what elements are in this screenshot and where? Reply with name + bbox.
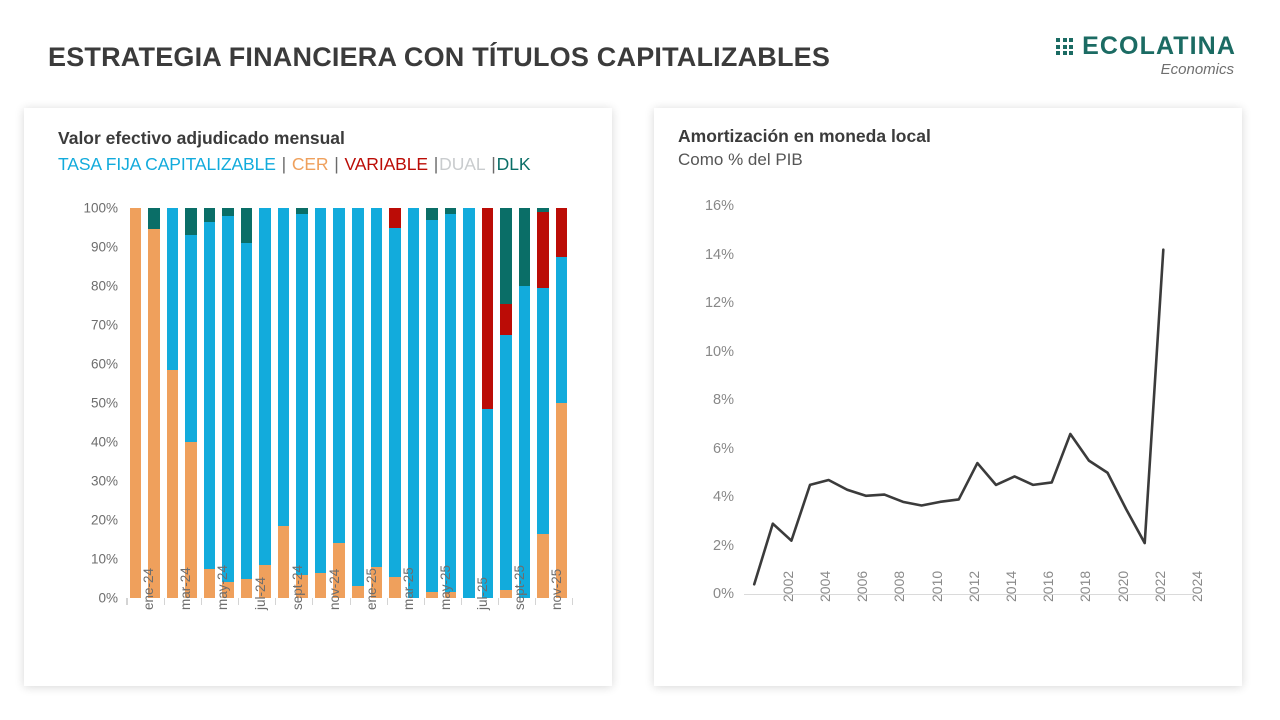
bar-segment <box>389 577 400 598</box>
bar-y-tick-label: 0% <box>98 591 118 606</box>
bar-segment <box>500 590 511 598</box>
bar-y-tick-label: 20% <box>91 513 118 528</box>
legend-item-dlk: DLK <box>497 154 531 174</box>
bar-y-tick-label: 80% <box>91 279 118 294</box>
bar-column[interactable] <box>130 208 141 598</box>
bar-y-tick-label: 60% <box>91 357 118 372</box>
line-chart: 0%2%4%6%8%10%12%14%16% 20022004200620082… <box>678 190 1218 680</box>
legend-separator: | <box>428 154 439 174</box>
line-x-tick-label: 2022 <box>1152 571 1168 602</box>
line-x-tick-label: 2024 <box>1189 571 1205 602</box>
bar-column[interactable] <box>537 208 548 598</box>
bar-segment <box>148 229 159 598</box>
line-x-tick-label: 2004 <box>817 571 833 602</box>
bar-axis-tick <box>461 598 462 605</box>
line-y-tick-label: 16% <box>705 198 734 214</box>
bar-column[interactable] <box>204 208 215 598</box>
bar-column[interactable] <box>222 208 233 598</box>
bar-segment <box>537 212 548 288</box>
bar-column[interactable] <box>315 208 326 598</box>
bar-column[interactable] <box>148 208 159 598</box>
bar-axis-tick <box>424 598 425 605</box>
bar-column[interactable] <box>445 208 456 598</box>
legend-separator: | <box>328 154 339 174</box>
bar-segment <box>426 208 437 220</box>
legend-item-tasa-fija-capitalizable: TASA FIJA CAPITALIZABLE <box>58 154 276 174</box>
line-y-tick-label: 14% <box>705 247 734 263</box>
bar-axis-tick <box>201 598 202 605</box>
bar-segment <box>241 579 252 599</box>
line-y-tick-label: 4% <box>713 489 734 505</box>
line-x-tick-label: 2008 <box>891 571 907 602</box>
bar-segment <box>185 208 196 235</box>
page-header: ESTRATEGIA FINANCIERA CON TÍTULOS CAPITA… <box>0 0 1280 98</box>
line-y-tick-label: 10% <box>705 344 734 360</box>
bar-segment <box>296 214 307 575</box>
bar-segment <box>296 208 307 214</box>
line-series-path <box>744 206 1194 594</box>
bar-segment <box>241 208 252 243</box>
bar-x-tick-label: may-24 <box>215 565 230 610</box>
bar-segment <box>204 222 215 569</box>
line-y-tick-label: 2% <box>713 538 734 554</box>
line-plot-area: 0%2%4%6%8%10%12%14%16% <box>744 206 1194 594</box>
line-x-tick-label: 2014 <box>1003 571 1019 602</box>
legend-item-dual: DUAL <box>439 154 485 174</box>
bar-column[interactable] <box>482 208 493 598</box>
bar-x-tick-label: ene-24 <box>141 568 156 610</box>
bar-x-tick-label: nov-25 <box>549 569 564 610</box>
line-x-tick-label: 2006 <box>854 571 870 602</box>
logo-wordmark: ECOLATINA <box>1082 34 1236 59</box>
bar-chart-legend: TASA FIJA CAPITALIZABLE | CER | VARIABLE… <box>58 154 530 175</box>
bar-column[interactable] <box>408 208 419 598</box>
bar-axis-tick <box>164 598 165 605</box>
bar-column[interactable] <box>167 208 178 598</box>
line-chart-subtitle: Como % del PIB <box>678 150 803 170</box>
bar-x-tick-label: jul-24 <box>253 577 268 610</box>
bar-segment <box>371 208 382 567</box>
bar-axis-tick <box>350 598 351 605</box>
bar-column[interactable] <box>352 208 363 598</box>
bar-column[interactable] <box>259 208 270 598</box>
bar-axis-tick <box>535 598 536 605</box>
bar-y-tick-label: 90% <box>91 240 118 255</box>
legend-item-variable: VARIABLE <box>344 154 428 174</box>
line-x-tick-label: 2010 <box>929 571 945 602</box>
bar-y-tick-label: 40% <box>91 435 118 450</box>
bar-axis-tick <box>387 598 388 605</box>
bar-segment <box>167 208 178 370</box>
bar-x-tick-label: sept-25 <box>512 565 527 610</box>
legend-separator: | <box>276 154 287 174</box>
bar-segment <box>204 208 215 222</box>
bar-column[interactable] <box>333 208 344 598</box>
line-y-tick-label: 8% <box>713 392 734 408</box>
bar-column[interactable] <box>278 208 289 598</box>
bar-segment <box>315 208 326 573</box>
bar-column[interactable] <box>519 208 530 598</box>
bar-y-tick-label: 30% <box>91 474 118 489</box>
bar-x-tick-label: ene-25 <box>364 568 379 610</box>
bar-segment <box>259 208 270 565</box>
bar-axis-tick <box>312 598 313 605</box>
bar-segment <box>537 208 548 212</box>
bar-segment <box>222 208 233 216</box>
bar-segment <box>426 220 437 592</box>
bar-column[interactable] <box>556 208 567 598</box>
bar-axis-tick <box>572 598 573 605</box>
bar-segment <box>278 208 289 526</box>
bar-segment <box>222 216 233 583</box>
bar-segment <box>556 257 567 403</box>
page-title: ESTRATEGIA FINANCIERA CON TÍTULOS CAPITA… <box>48 42 830 73</box>
bar-segment <box>445 214 456 592</box>
line-x-tick-label: 2020 <box>1115 571 1131 602</box>
bar-segment <box>445 208 456 214</box>
bar-y-tick-label: 50% <box>91 396 118 411</box>
bar-column[interactable] <box>426 208 437 598</box>
bar-segment <box>389 228 400 577</box>
bar-segment <box>482 409 493 598</box>
bar-segment <box>463 208 474 598</box>
bar-x-tick-label: mar-25 <box>401 567 416 610</box>
line-y-tick-label: 6% <box>713 441 734 457</box>
bar-axis-tick <box>127 598 128 605</box>
line-x-tick-label: 2016 <box>1040 571 1056 602</box>
bar-segment <box>482 208 493 409</box>
bar-x-tick-label: nov-24 <box>327 569 342 610</box>
bar-axis-tick <box>498 598 499 605</box>
bar-segment <box>204 569 215 598</box>
bar-y-tick-label: 10% <box>91 552 118 567</box>
bar-column[interactable] <box>389 208 400 598</box>
bar-segment <box>519 208 530 286</box>
bar-chart-title: Valor efectivo adjudicado mensual <box>58 128 345 149</box>
logo-tagline: Economics <box>1161 62 1234 77</box>
line-x-tick-label: 2012 <box>966 571 982 602</box>
bar-segment <box>352 586 363 598</box>
bar-segment <box>167 370 178 598</box>
bar-segment <box>537 534 548 598</box>
bar-x-tick-label: jul-25 <box>475 577 490 610</box>
legend-separator: | <box>485 154 496 174</box>
bar-segment <box>408 208 419 598</box>
bar-segment <box>278 526 289 598</box>
line-chart-title: Amortización en moneda local <box>678 126 931 147</box>
line-x-tick-label: 2002 <box>780 571 796 602</box>
bar-column[interactable] <box>371 208 382 598</box>
bar-segment <box>500 335 511 590</box>
bar-segment <box>537 288 548 534</box>
line-y-tick-label: 0% <box>713 586 734 602</box>
bar-segment <box>185 235 196 442</box>
line-y-tick-label: 12% <box>705 295 734 311</box>
bar-x-tick-label: sept-24 <box>290 565 305 610</box>
bar-segment <box>130 208 141 598</box>
bar-segment <box>148 208 159 229</box>
bar-segment <box>500 208 511 304</box>
legend-item-cer: CER <box>292 154 329 174</box>
bar-segment <box>315 573 326 598</box>
bar-plot-area: 0%10%20%30%40%50%60%70%80%90%100% <box>126 208 571 598</box>
grid-dots-icon <box>1056 38 1073 55</box>
bar-segment <box>333 208 344 543</box>
line-x-tick-label: 2018 <box>1077 571 1093 602</box>
bar-segment <box>519 286 530 598</box>
bar-chart-card: Valor efectivo adjudicado mensual TASA F… <box>24 108 612 686</box>
bar-segment <box>352 208 363 586</box>
bar-segment <box>500 304 511 335</box>
bar-column[interactable] <box>241 208 252 598</box>
bar-x-tick-label: may-25 <box>438 565 453 610</box>
bar-x-tick-label: mar-24 <box>178 567 193 610</box>
bar-y-tick-label: 100% <box>83 201 118 216</box>
bar-segment <box>389 208 400 228</box>
bar-chart: 0%10%20%30%40%50%60%70%80%90%100% ene-24… <box>58 194 598 674</box>
bar-column[interactable] <box>463 208 474 598</box>
line-chart-card: Amortización en moneda local Como % del … <box>654 108 1242 686</box>
ecolatina-logo: ECOLATINA Economics <box>1056 34 1236 77</box>
bar-column[interactable] <box>185 208 196 598</box>
bar-axis-tick <box>238 598 239 605</box>
bar-column[interactable] <box>500 208 511 598</box>
bar-axis-tick <box>275 598 276 605</box>
bar-column[interactable] <box>296 208 307 598</box>
bar-segment <box>241 243 252 578</box>
bar-y-tick-label: 70% <box>91 318 118 333</box>
bar-segment <box>556 208 567 257</box>
